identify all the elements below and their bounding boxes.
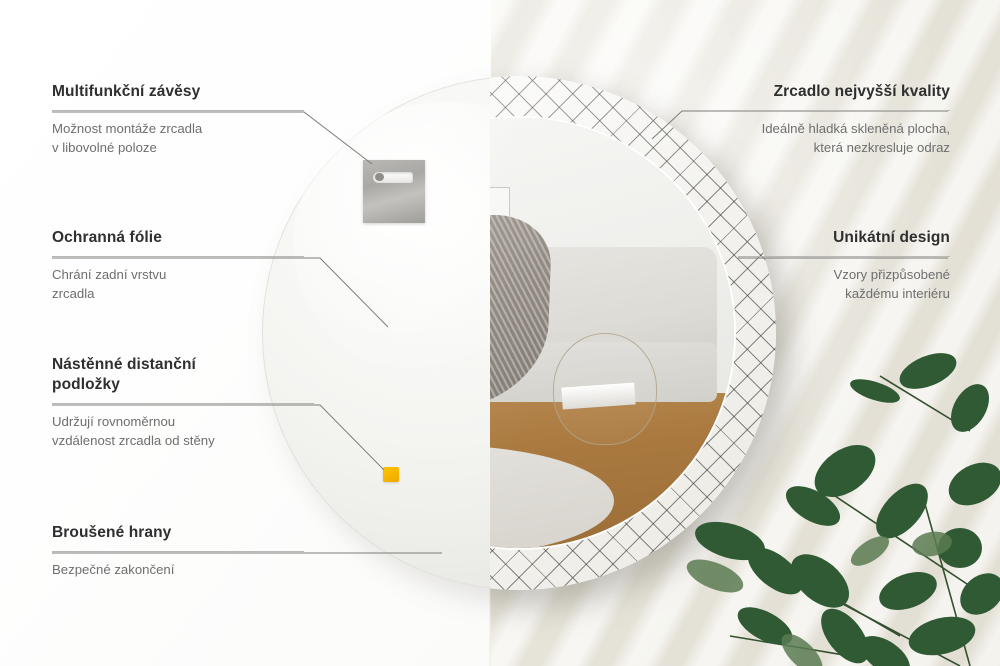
- callout-ochranna-folie: Ochranná fólie Chrání zadní vrstvu zrcad…: [52, 228, 304, 304]
- callout-rule: [52, 403, 314, 404]
- callout-title: Broušené hrany: [52, 523, 304, 543]
- callout-description: Udržují rovnoměrnou vzdálenost zrcadla o…: [52, 413, 314, 450]
- callout-title: Nástěnné distanční podložky: [52, 355, 314, 395]
- callout-description: Chrání zadní vrstvu zrcadla: [52, 266, 304, 303]
- callout-brousene-hrany: Broušené hrany Bezpečné zakončení: [52, 523, 304, 580]
- callout-title: Multifunkční závěsy: [52, 82, 304, 102]
- callout-unikatni-design: Unikátní design Vzory přizpůsobené každé…: [738, 228, 950, 304]
- plant-leaves: [670, 336, 1000, 666]
- yellow-spacer: [383, 467, 399, 482]
- callout-rule: [718, 110, 950, 111]
- callout-multifunkcni-zavesy: Multifunkční závěsy Možnost montáže zrca…: [52, 82, 304, 158]
- callout-description: Možnost montáže zrcadla v libovolné polo…: [52, 120, 304, 157]
- hanger-bracket: [363, 160, 425, 223]
- callout-description: Vzory přizpůsobené každému interiéru: [738, 266, 950, 303]
- callout-title: Zrcadlo nejvyšší kvality: [718, 82, 950, 102]
- callout-title: Ochranná fólie: [52, 228, 304, 248]
- callout-rule: [738, 256, 950, 257]
- callout-nastenne-distancni-podlozky: Nástěnné distanční podložky Udržují rovn…: [52, 355, 314, 451]
- callout-rule: [52, 551, 304, 552]
- callout-rule: [52, 256, 304, 257]
- callout-title: Unikátní design: [738, 228, 950, 248]
- callout-description: Ideálně hladká skleněná plocha, která ne…: [718, 120, 950, 157]
- callout-description: Bezpečné zakončení: [52, 561, 304, 580]
- infographic-stage: Multifunkční závěsy Možnost montáže zrca…: [0, 0, 1000, 666]
- bracket-keyhole-slot: [373, 172, 413, 183]
- callout-zrcadlo-nejvyssi-kvality: Zrcadlo nejvyšší kvality Ideálně hladká …: [718, 82, 950, 158]
- callout-rule: [52, 110, 304, 111]
